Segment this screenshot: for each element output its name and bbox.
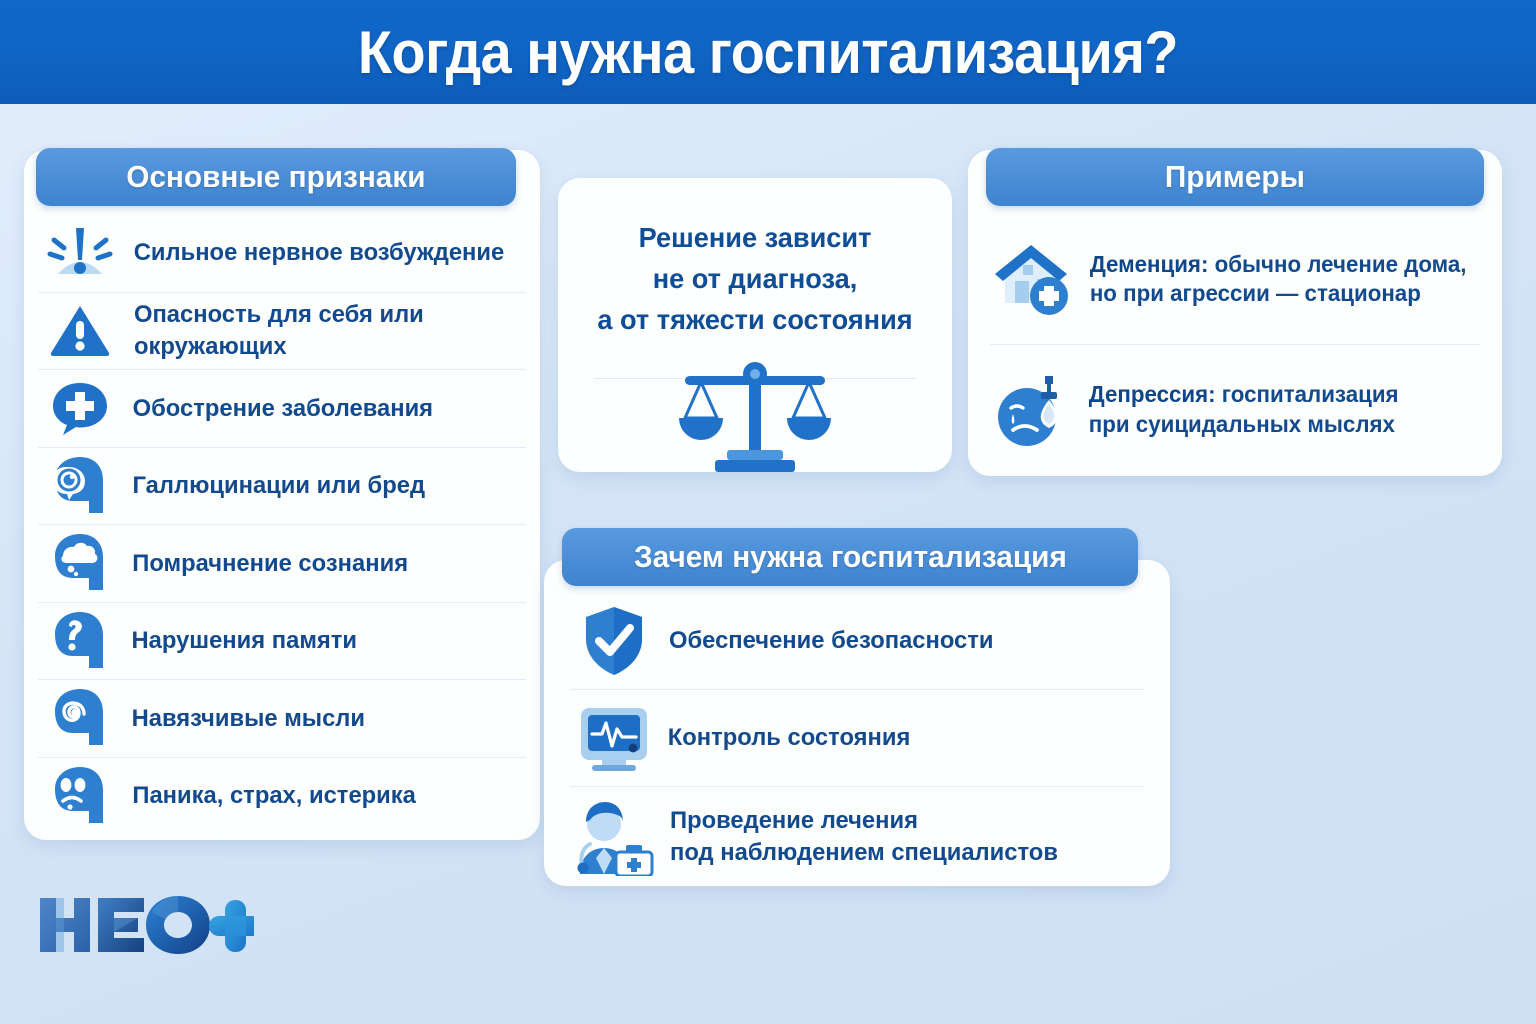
quote-line-2: не от диагноза,: [564, 259, 946, 300]
list-item[interactable]: Сильное нервное возбуждение: [38, 214, 526, 292]
signs-list: Сильное нервное возбуждение Опасность дл…: [24, 214, 540, 840]
warning-triangle-icon: [38, 298, 122, 364]
why-panel-title: Зачем нужна госпитализация: [634, 539, 1067, 575]
head-panic-face-icon: [38, 763, 122, 829]
quote-line-1: Решение зависит: [564, 218, 946, 259]
why-panel-header: Зачем нужна госпитализация: [562, 528, 1138, 586]
header-banner: Когда нужна госпитализация?: [0, 0, 1536, 104]
infographic-root: Когда нужна госпитализация? Основные при…: [0, 0, 1536, 1024]
doctor-bag-icon: [570, 796, 658, 878]
quote-card: Решение зависит не от диагноза, а от тяж…: [558, 178, 952, 472]
example-label-bold: Депрессия:: [1089, 381, 1216, 407]
list-item-label: Контроль состояния: [668, 722, 911, 753]
list-item[interactable]: Помрачнение сознания: [38, 524, 526, 602]
ecg-monitor-icon: [570, 697, 658, 779]
head-eye-bubble-icon: [38, 453, 122, 519]
list-item-label: Паника, страх, истерика: [132, 780, 416, 811]
example-label-line2: но при агрессии — стационар: [1090, 279, 1467, 308]
list-item-label: Навязчивые мысли: [132, 703, 365, 734]
list-item-label: Галлюцинации или бред: [133, 470, 426, 501]
list-item[interactable]: Обострение заболевания: [38, 369, 526, 447]
example-label-rest: обычно лечение дома,: [1208, 251, 1466, 277]
house-medical-icon: [990, 233, 1076, 325]
examples-panel-header: Примеры: [986, 148, 1484, 206]
list-item[interactable]: Навязчивые мысли: [38, 679, 526, 757]
why-list: Обеспечение безопасности Контроль состоя…: [544, 592, 1170, 886]
example-label-rest: госпитализация: [1216, 381, 1399, 407]
list-item-label: Опасность для себя или окружающих: [134, 299, 520, 362]
example-label-line2: при суицидальных мыслях: [1089, 410, 1399, 439]
quote-line-3: а от тяжести состояния: [564, 300, 946, 341]
neo-plus-logo[interactable]: [34, 890, 254, 960]
sad-face-teardrop-icon: [990, 364, 1076, 456]
list-item[interactable]: Нарушения памяти: [38, 602, 526, 680]
list-item[interactable]: Опасность для себя или окружающих: [38, 292, 526, 370]
exclamation-burst-icon: [38, 220, 122, 286]
quote-text: Решение зависит не от диагноза, а от тяж…: [564, 218, 946, 341]
signs-panel-title: Основные признаки: [126, 159, 425, 195]
list-item-label: Обострение заболевания: [133, 393, 433, 424]
signs-panel-header: Основные признаки: [36, 148, 516, 206]
list-item-label: Нарушения памяти: [131, 625, 357, 656]
head-cloud-icon: [38, 530, 122, 596]
head-spiral-icon: [38, 685, 122, 751]
list-item[interactable]: Деменция: обычно лечение дома, но при аг…: [990, 214, 1480, 344]
list-item-label: Помрачнение сознания: [132, 548, 408, 579]
list-item-label: Проведение лечения под наблюдением специ…: [670, 805, 1058, 868]
page-title: Когда нужна госпитализация?: [358, 18, 1178, 87]
head-question-icon: [38, 608, 122, 674]
why-label-line2: под наблюдением специалистов: [670, 837, 1058, 868]
list-item[interactable]: Галлюцинации или бред: [38, 447, 526, 525]
shield-check-icon: [570, 600, 658, 682]
list-item[interactable]: Проведение лечения под наблюдением специ…: [570, 786, 1144, 886]
list-item[interactable]: Контроль состояния: [570, 689, 1144, 786]
list-item-label: Депрессия: госпитализация при суицидальн…: [1089, 380, 1399, 439]
example-label-bold: Деменция:: [1090, 251, 1209, 277]
list-item-label: Обеспечение безопасности: [669, 625, 994, 656]
examples-list: Деменция: обычно лечение дома, но при аг…: [968, 214, 1502, 476]
list-item[interactable]: Паника, страх, истерика: [38, 757, 526, 835]
list-item-label: Деменция: обычно лечение дома, но при аг…: [1090, 250, 1467, 309]
why-label-line1: Проведение лечения: [670, 805, 1058, 836]
balance-scales-icon: [558, 338, 952, 472]
medical-cross-bubble-icon: [38, 375, 122, 441]
list-item[interactable]: Депрессия: госпитализация при суицидальн…: [990, 344, 1480, 474]
list-item[interactable]: Обеспечение безопасности: [570, 592, 1144, 689]
list-item-label: Сильное нервное возбуждение: [134, 237, 504, 268]
examples-panel-title: Примеры: [1165, 159, 1305, 195]
